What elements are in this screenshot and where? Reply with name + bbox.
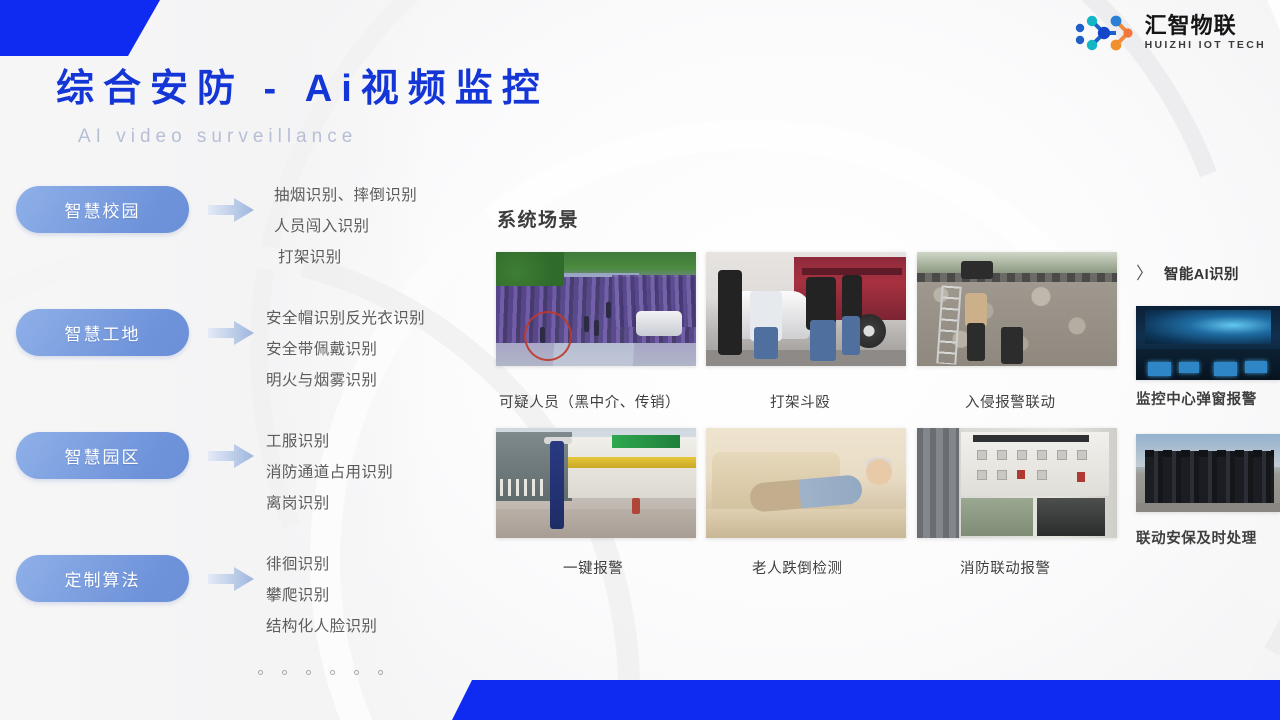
- category-pill-label: 定制算法: [65, 566, 141, 591]
- dot: [306, 670, 311, 675]
- page-subtitle: AI video surveillance: [78, 126, 357, 148]
- category-list: 智慧校园 抽烟识别、摔倒识别 人员闯入识别 打架识别 智慧工地: [0, 186, 470, 678]
- scene-thumbnail-monitoring-center[interactable]: [1136, 306, 1280, 380]
- dot: [258, 670, 263, 675]
- molecule-network-icon: [1072, 11, 1136, 55]
- scene-caption: 可疑人员（黑中介、传销）: [499, 391, 680, 412]
- scene-image: [917, 428, 1117, 538]
- scene-thumbnail-intrusion-alarm[interactable]: [917, 252, 1117, 366]
- list-item: 明火与烟雾识别: [266, 365, 476, 396]
- ellipsis-dots: [258, 670, 383, 675]
- category-pill-smart-campus[interactable]: 智慧校园: [16, 186, 189, 233]
- dot: [330, 670, 335, 675]
- list-item: 打架识别: [266, 242, 476, 273]
- category-pill-custom-algorithm[interactable]: 定制算法: [16, 555, 189, 602]
- chevron-right-icon: 〉: [1136, 265, 1153, 282]
- category-pill-label: 智慧工地: [65, 320, 141, 345]
- scene-image: [706, 252, 906, 366]
- scene-caption: 消防联动报警: [960, 557, 1051, 578]
- list-item: 消防通道占用识别: [266, 457, 476, 488]
- brand-logo: 汇智物联 HUIZHI IOT TECH: [1072, 11, 1266, 55]
- category-pill-label: 智慧园区: [65, 443, 141, 468]
- category-items-0: 抽烟识别、摔倒识别 人员闯入识别 打架识别: [266, 180, 476, 273]
- category-group-3: 定制算法 徘徊识别 攀爬识别 结构化人脸识别: [0, 555, 470, 678]
- scene-thumbnail-elderly-fall[interactable]: [706, 428, 906, 538]
- scene-thumbnail-security-response[interactable]: [1136, 434, 1280, 512]
- scene-image: [1136, 434, 1280, 512]
- category-pill-smart-site[interactable]: 智慧工地: [16, 309, 189, 356]
- arrow-right-icon: [208, 197, 254, 223]
- scene-image: [496, 428, 696, 538]
- scene-caption: 入侵报警联动: [965, 391, 1056, 412]
- arrow-right-icon: [208, 443, 254, 469]
- category-pill-label: 智慧校园: [65, 197, 141, 222]
- scene-image: [1136, 306, 1280, 380]
- dot: [282, 670, 287, 675]
- scene-caption: 联动安保及时处理: [1136, 527, 1257, 548]
- category-group-1: 智慧工地 安全帽识别反光衣识别 安全带佩戴识别 明火与烟雾识别: [0, 309, 470, 432]
- section-title-system-scenes: 系统场景: [497, 205, 579, 232]
- dot: [378, 670, 383, 675]
- scene-image: [706, 428, 906, 538]
- category-items-1: 安全帽识别反光衣识别 安全带佩戴识别 明火与烟雾识别: [266, 303, 476, 396]
- scene-thumbnail-one-key-alarm[interactable]: [496, 428, 696, 538]
- brand-wordmark: 汇智物联 HUIZHI IOT TECH: [1145, 14, 1266, 53]
- scene-image: [917, 252, 1117, 366]
- list-item: 工服识别: [266, 426, 476, 457]
- list-item: 结构化人脸识别: [266, 611, 476, 642]
- category-items-3: 徘徊识别 攀爬识别 结构化人脸识别: [266, 549, 476, 642]
- scene-thumbnail-fighting[interactable]: [706, 252, 906, 366]
- page-title: 综合安防 - Ai视频监控: [56, 70, 549, 108]
- arrow-right-icon: [208, 320, 254, 346]
- ai-recognition-label: 智能AI识别: [1164, 263, 1239, 284]
- brand-name-en: HUIZHI IOT TECH: [1145, 39, 1266, 53]
- list-item: 安全带佩戴识别: [266, 334, 476, 365]
- arrow-right-icon: [208, 566, 254, 592]
- category-items-2: 工服识别 消防通道占用识别 离岗识别: [266, 426, 476, 519]
- scene-thumbnail-suspicious-persons[interactable]: [496, 252, 696, 366]
- scene-caption: 老人跌倒检测: [752, 557, 843, 578]
- list-item: 攀爬识别: [266, 580, 476, 611]
- list-item: 安全帽识别反光衣识别: [266, 303, 476, 334]
- bottom-accent-bar: [452, 680, 1280, 720]
- dot: [354, 670, 359, 675]
- list-item: 抽烟识别、摔倒识别: [266, 180, 476, 211]
- list-item: 徘徊识别: [266, 549, 476, 580]
- brand-name-cn: 汇智物联: [1145, 14, 1237, 37]
- category-group-2: 智慧园区 工服识别 消防通道占用识别 离岗识别: [0, 432, 470, 555]
- list-item: 人员闯入识别: [266, 211, 476, 242]
- scene-caption: 监控中心弹窗报警: [1136, 388, 1257, 409]
- category-group-0: 智慧校园 抽烟识别、摔倒识别 人员闯入识别 打架识别: [0, 186, 470, 309]
- ai-recognition-tag: 〉 智能AI识别: [1136, 263, 1239, 284]
- scene-image: [496, 252, 696, 366]
- scene-caption: 打架斗殴: [770, 391, 830, 412]
- scene-caption: 一键报警: [563, 557, 623, 578]
- slide-canvas: 汇智物联 HUIZHI IOT TECH 综合安防 - Ai视频监控 AI vi…: [0, 0, 1280, 720]
- scene-thumbnail-fire-alarm-linkage[interactable]: [917, 428, 1117, 538]
- category-pill-smart-park[interactable]: 智慧园区: [16, 432, 189, 479]
- list-item: 离岗识别: [266, 488, 476, 519]
